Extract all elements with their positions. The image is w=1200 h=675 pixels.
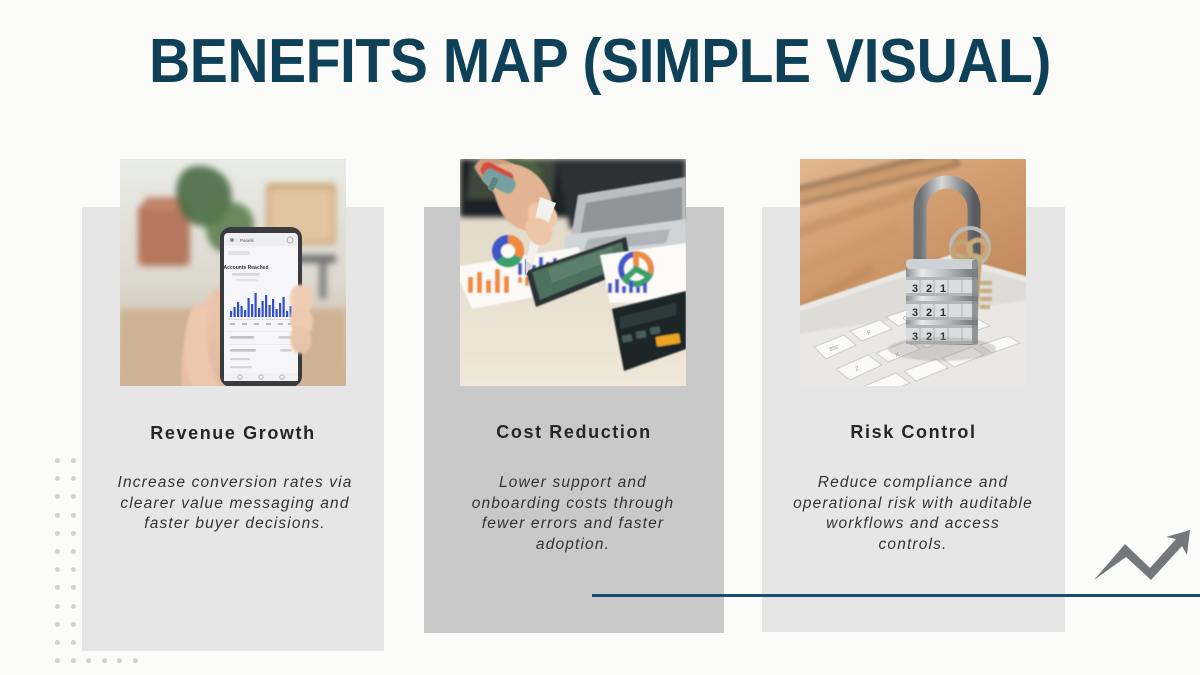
svg-text:2: 2 [926,283,932,295]
dot [71,531,76,536]
card-heading-cost-reduction: Cost Reduction [424,422,724,443]
dot [55,458,60,463]
dot [102,658,107,663]
accent-underline [592,594,1200,597]
dot [71,476,76,481]
svg-text:1: 1 [940,307,946,319]
dot [71,567,76,572]
svg-text:3: 3 [912,283,918,295]
svg-text:Accounts Reached: Accounts Reached [223,265,268,271]
dot [55,531,60,536]
dot [71,513,76,518]
card-body-risk-control: Reduce compliance and operational risk w… [790,473,1036,555]
card-body-cost-reduction: Lower support and onboarding costs throu… [452,473,694,555]
dot [55,622,60,627]
svg-text:3: 3 [912,307,918,319]
dot [86,658,91,663]
card-heading-risk-control: Risk Control [762,422,1065,443]
dot [117,658,122,663]
svg-text:1: 1 [940,283,946,295]
page-title: BENEFITS MAP (SIMPLE VISUAL) [48,28,1152,96]
dot [55,658,60,663]
dot [55,476,60,481]
dot [55,494,60,499]
dot [71,658,76,663]
dot [71,458,76,463]
dot [55,513,60,518]
dot [71,622,76,627]
card-image-cost-reduction [460,159,686,386]
growth-arrow-icon [1092,528,1194,583]
dot [55,549,60,554]
dot [133,658,138,663]
svg-text:2: 2 [926,307,932,319]
dot [71,640,76,645]
card-heading-revenue-growth: Revenue Growth [82,423,384,444]
dot [71,604,76,609]
dot [55,567,60,572]
card-body-revenue-growth: Increase conversion rates via clearer va… [110,473,360,535]
slide-canvas: BENEFITS MAP (SIMPLE VISUAL) [0,0,1200,675]
dot [71,494,76,499]
card-image-risk-control: esc F G Z X C K [800,159,1026,386]
dot [55,640,60,645]
svg-text:Panels: Panels [240,238,255,243]
dot [55,585,60,590]
card-image-revenue-growth: Panels Accounts Reached [120,159,346,386]
dot [71,585,76,590]
dot [55,604,60,609]
dot [71,549,76,554]
